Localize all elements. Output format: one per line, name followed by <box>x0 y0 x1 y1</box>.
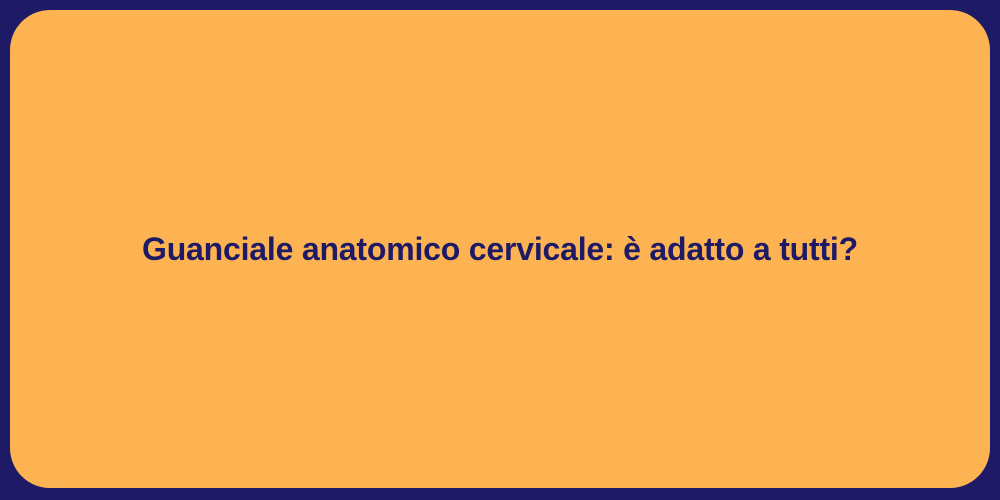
page-title: Guanciale anatomico cervicale: è adatto … <box>82 229 918 269</box>
banner-root: Guanciale anatomico cervicale: è adatto … <box>0 0 1000 500</box>
title-card: Guanciale anatomico cervicale: è adatto … <box>10 10 990 488</box>
